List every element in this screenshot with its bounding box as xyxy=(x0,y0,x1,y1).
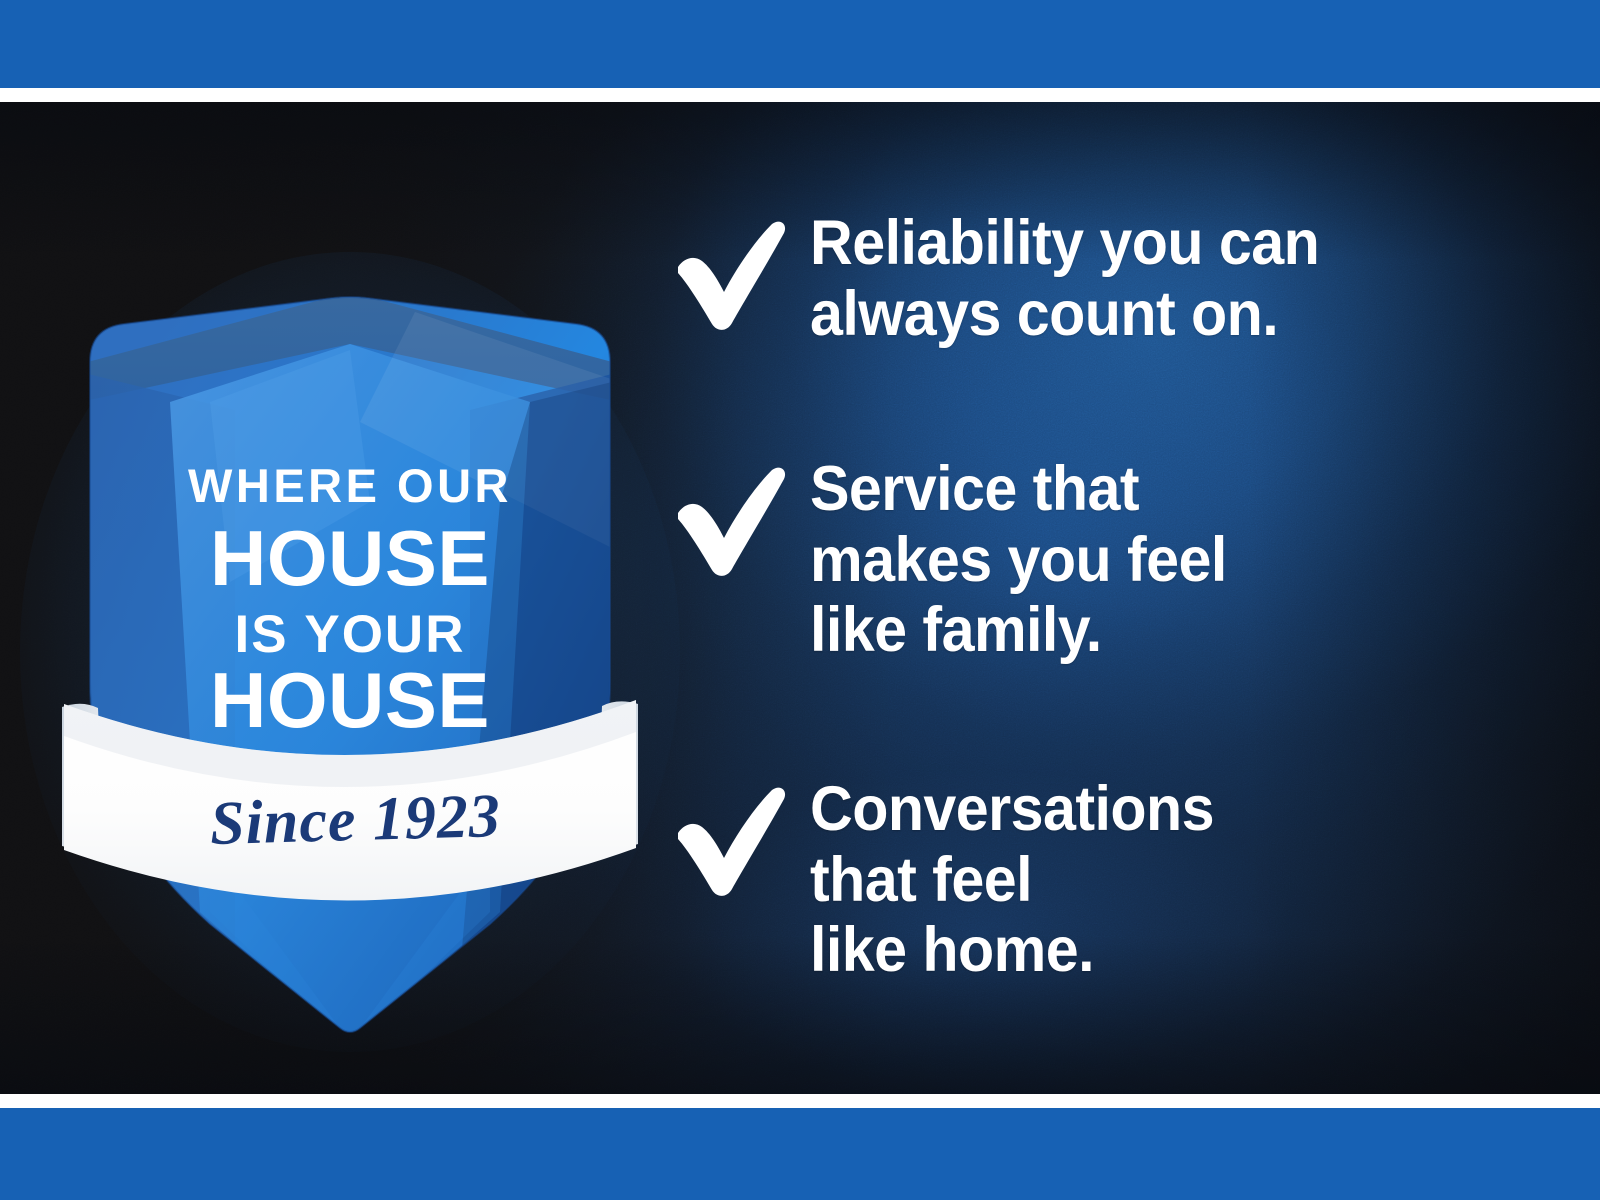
badge-line-1: WHERE OUR xyxy=(188,459,512,512)
top-white-divider xyxy=(0,88,1600,102)
checkmark-icon-2 xyxy=(660,774,810,900)
main-canvas: WHERE OUR HOUSE IS YOUR HOUSE Since 1923 xyxy=(0,102,1600,1094)
ribbon-since-text: Since 1923 xyxy=(209,782,502,858)
badge-line-4: HOUSE xyxy=(210,656,490,744)
shield-badge: WHERE OUR HOUSE IS YOUR HOUSE Since 1923 xyxy=(60,252,640,1042)
bottom-brand-bar xyxy=(0,1108,1600,1200)
benefit-text-1: Service that makes you feel like family. xyxy=(810,454,1506,666)
bottom-white-divider xyxy=(0,1094,1600,1108)
benefits-list: Reliability you can always count on. Ser… xyxy=(660,102,1550,1094)
benefit-item-0: Reliability you can always count on. xyxy=(660,208,1550,349)
top-brand-bar xyxy=(0,0,1600,88)
benefit-item-1: Service that makes you feel like family. xyxy=(660,454,1550,666)
badge-line-2: HOUSE xyxy=(210,514,490,602)
checkmark-icon-0 xyxy=(660,208,810,334)
checkmark-icon-1 xyxy=(660,454,810,580)
promo-graphic: WHERE OUR HOUSE IS YOUR HOUSE Since 1923 xyxy=(0,0,1600,1200)
benefit-text-0: Reliability you can always count on. xyxy=(810,208,1506,349)
benefit-text-2: Conversations that feel like home. xyxy=(810,774,1506,986)
benefit-item-2: Conversations that feel like home. xyxy=(660,774,1550,986)
